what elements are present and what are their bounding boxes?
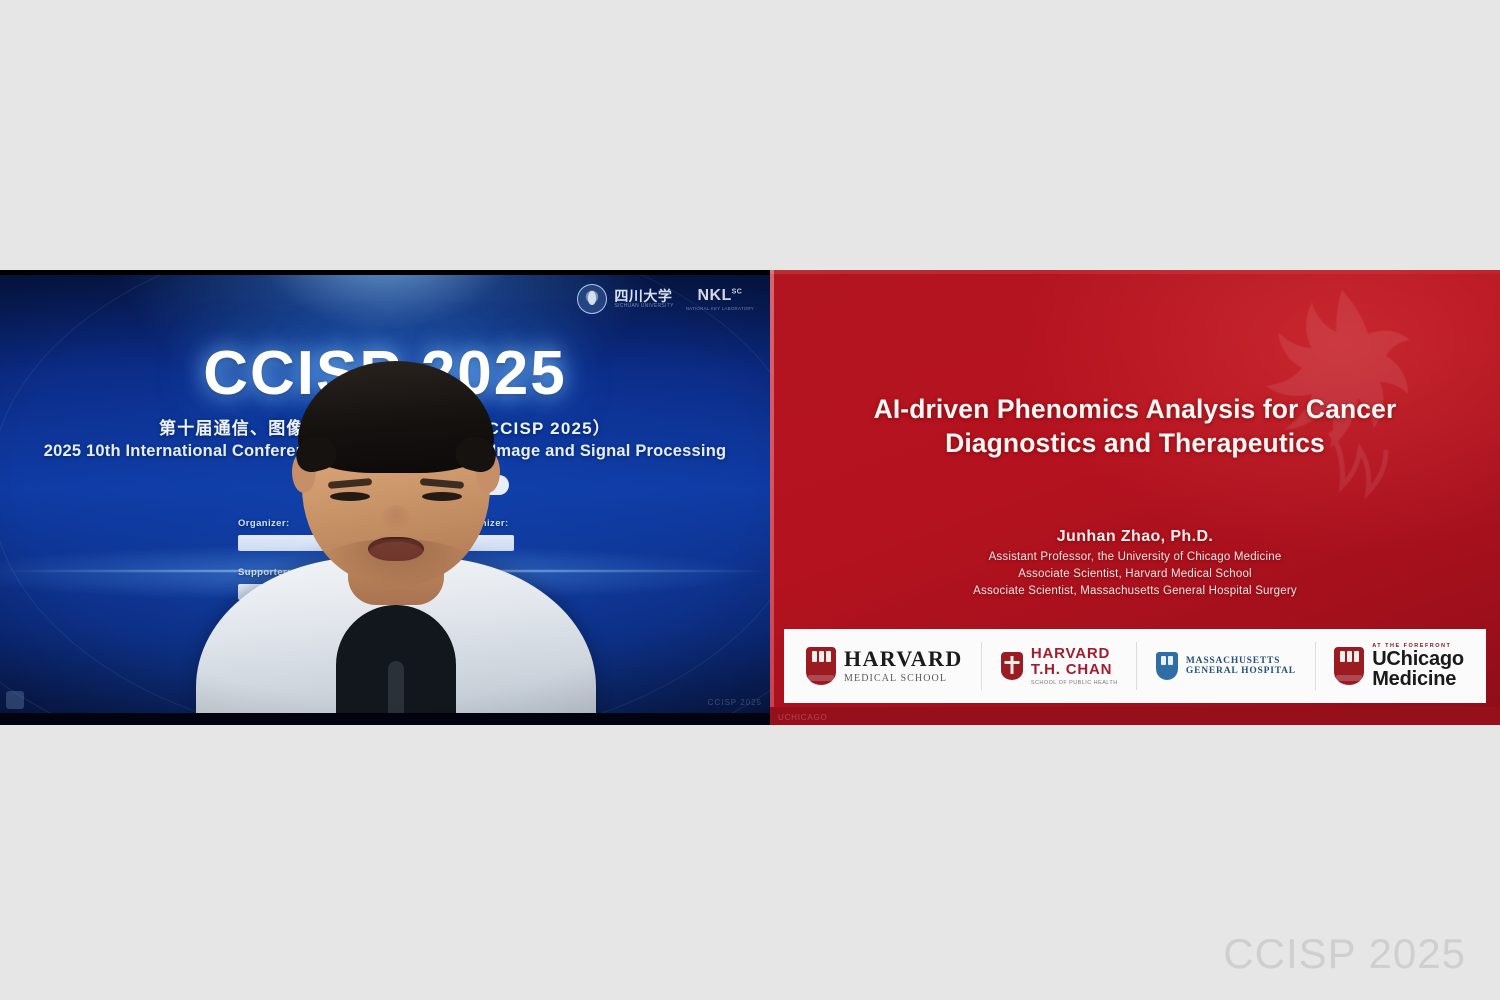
harvard-shield-icon xyxy=(806,647,836,685)
harvard-th-chan-logo: HARVARD T.H. CHAN SCHOOL OF PUBLIC HEALT… xyxy=(1001,646,1118,687)
uchicago-medicine-wordmark: Medicine xyxy=(1372,669,1464,689)
harvard-chan-line-2: T.H. CHAN xyxy=(1031,662,1118,678)
uchicago-shield-icon xyxy=(1334,647,1364,685)
speaker-chin-shadow xyxy=(321,539,471,583)
slide-affiliation-1: Assistant Professor, the University of C… xyxy=(808,551,1462,563)
speaker-figure xyxy=(196,395,596,725)
slide-affiliation-3: Associate Scientist, Massachusetts Gener… xyxy=(808,585,1462,597)
slide-speaker-name: Junhan Zhao, Ph.D. xyxy=(808,528,1462,546)
banner-logo-group: 四川大学 SICHUAN UNIVERSITY NKLSC NATIONAL K… xyxy=(577,284,754,314)
harvard-chan-line-3: SCHOOL OF PUBLIC HEALTH xyxy=(1031,680,1118,686)
nkl-subtitle: NATIONAL KEY LABORATORY xyxy=(686,306,754,311)
video-stage: 四川大学 SICHUAN UNIVERSITY NKLSC NATIONAL K… xyxy=(0,270,1500,725)
sichuan-university-name: 四川大学 xyxy=(614,289,673,303)
sichuan-university-seal-icon xyxy=(577,284,607,314)
mgh-shield-icon xyxy=(1156,652,1178,680)
slide-affiliation-2: Associate Scientist, Harvard Medical Sch… xyxy=(808,568,1462,580)
harvard-wordmark: HARVARD xyxy=(844,648,963,670)
page-watermark: CCISP 2025 xyxy=(1223,930,1466,978)
speaker-video-pane[interactable]: 四川大学 SICHUAN UNIVERSITY NKLSC NATIONAL K… xyxy=(0,270,770,725)
speaker-eye-right xyxy=(422,492,462,501)
harvard-chan-line-1: HARVARD xyxy=(1031,646,1118,662)
camera-letterbox-top xyxy=(0,270,770,275)
mgh-line-2: GENERAL HOSPITAL xyxy=(1186,666,1296,676)
sichuan-university-logo: 四川大学 SICHUAN UNIVERSITY xyxy=(577,284,673,314)
nkl-wordmark: NKL xyxy=(698,287,732,304)
logo-divider xyxy=(1136,642,1137,690)
harvard-medical-school-subtitle: MEDICAL SCHOOL xyxy=(844,673,963,684)
massachusetts-general-hospital-logo: MASSACHUSETTS GENERAL HOSPITAL xyxy=(1156,652,1296,680)
speaker-inner-shirt xyxy=(336,605,456,725)
harvard-chan-shield-icon xyxy=(1001,652,1023,680)
slide-title-line-2: Diagnostics and Therapeutics xyxy=(808,426,1462,460)
slide-title: AI-driven Phenomics Analysis for Cancer … xyxy=(808,392,1462,461)
slide-speaker-block: Junhan Zhao, Ph.D. Assistant Professor, … xyxy=(808,528,1462,597)
nkl-superscript: SC xyxy=(732,288,743,295)
sichuan-university-subtitle: SICHUAN UNIVERSITY xyxy=(614,303,673,310)
logo-divider xyxy=(981,642,982,690)
slide-footer-tag: UCHICAGO xyxy=(778,713,828,722)
slide-title-line-1: AI-driven Phenomics Analysis for Cancer xyxy=(808,392,1462,426)
uchicago-wordmark: UChicago xyxy=(1372,649,1464,669)
uchicago-medicine-logo: AT THE FOREFRONT UChicago Medicine xyxy=(1334,643,1464,690)
slide-institution-logo-bar: HARVARD MEDICAL SCHOOL HARVARD T.H. CHAN… xyxy=(784,629,1486,703)
speaker-eye-left xyxy=(330,492,370,501)
slide-top-band xyxy=(770,270,1500,274)
harvard-medical-school-logo: HARVARD MEDICAL SCHOOL xyxy=(806,647,963,685)
slide-left-edge xyxy=(770,270,774,725)
mgh-line-1: MASSACHUSETTS xyxy=(1186,656,1296,666)
shared-slide-pane[interactable]: AI-driven Phenomics Analysis for Cancer … xyxy=(770,270,1500,725)
logo-divider xyxy=(1315,642,1316,690)
camera-watermark: CCISP 2025 xyxy=(708,698,762,707)
camera-letterbox-bottom xyxy=(0,713,770,725)
slide-bottom-strip xyxy=(770,707,1500,725)
speaker-nose xyxy=(381,505,411,535)
camera-corner-badge xyxy=(6,691,24,709)
national-key-lab-logo: NKLSC NATIONAL KEY LABORATORY xyxy=(686,288,754,311)
